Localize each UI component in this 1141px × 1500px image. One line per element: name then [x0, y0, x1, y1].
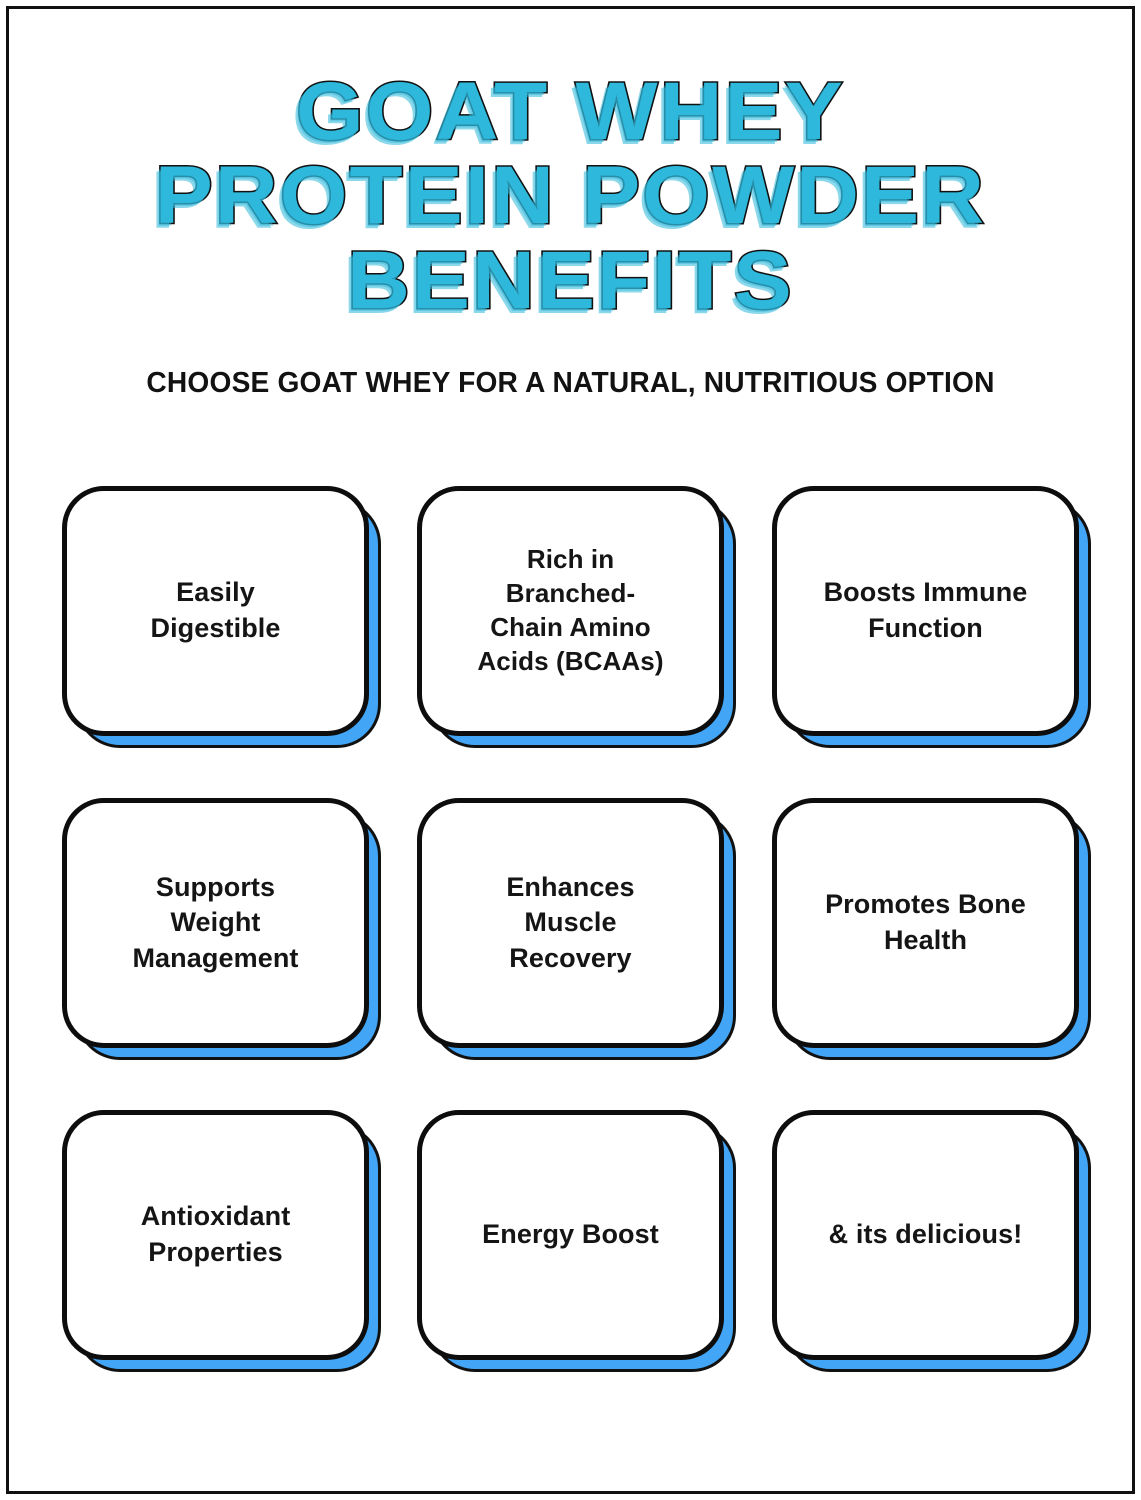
card-body[interactable]: Easily Digestible [62, 486, 369, 736]
card-body[interactable]: Energy Boost [417, 1110, 724, 1360]
infographic-poster: GOAT WHEY PROTEIN POWDER BENEFITS CHOOSE… [0, 0, 1141, 1500]
benefits-grid: Easily Digestible Rich in Branched- Chai… [40, 486, 1101, 1360]
card-body[interactable]: Promotes Bone Health [772, 798, 1079, 1048]
benefit-card-bcaas[interactable]: Rich in Branched- Chain Amino Acids (BCA… [417, 486, 724, 736]
benefit-card-muscle-recovery[interactable]: Enhances Muscle Recovery [417, 798, 724, 1048]
benefit-label: Antioxidant Properties [141, 1199, 291, 1270]
benefit-card-energy-boost[interactable]: Energy Boost [417, 1110, 724, 1360]
title-line-1: GOAT WHEY [8, 72, 1133, 152]
benefit-card-antioxidant[interactable]: Antioxidant Properties [62, 1110, 369, 1360]
card-body[interactable]: Enhances Muscle Recovery [417, 798, 724, 1048]
card-body[interactable]: Rich in Branched- Chain Amino Acids (BCA… [417, 486, 724, 736]
card-body[interactable]: Antioxidant Properties [62, 1110, 369, 1360]
title-line-3: BENEFITS [8, 241, 1133, 321]
poster-content: GOAT WHEY PROTEIN POWDER BENEFITS CHOOSE… [0, 0, 1141, 1500]
benefit-label: Supports Weight Management [132, 870, 298, 977]
benefit-label: Easily Digestible [150, 575, 280, 646]
benefit-label: & its delicious! [829, 1217, 1023, 1253]
benefit-card-easily-digestible[interactable]: Easily Digestible [62, 486, 369, 736]
benefit-label: Rich in Branched- Chain Amino Acids (BCA… [477, 543, 663, 678]
benefit-label: Energy Boost [482, 1217, 659, 1253]
benefit-card-immune-function[interactable]: Boosts Immune Function [772, 486, 1079, 736]
benefit-card-delicious[interactable]: & its delicious! [772, 1110, 1079, 1360]
title-line-2: PROTEIN POWDER [8, 156, 1133, 236]
benefit-label: Boosts Immune Function [824, 575, 1028, 646]
benefit-card-weight-management[interactable]: Supports Weight Management [62, 798, 369, 1048]
card-body[interactable]: Supports Weight Management [62, 798, 369, 1048]
card-body[interactable]: Boosts Immune Function [772, 486, 1079, 736]
benefit-label: Enhances Muscle Recovery [506, 870, 634, 977]
benefit-label: Promotes Bone Health [825, 887, 1026, 958]
card-body[interactable]: & its delicious! [772, 1110, 1079, 1360]
benefit-card-bone-health[interactable]: Promotes Bone Health [772, 798, 1079, 1048]
poster-subtitle: CHOOSE GOAT WHEY FOR A NATURAL, NUTRITIO… [56, 367, 1085, 400]
poster-title: GOAT WHEY PROTEIN POWDER BENEFITS [40, 0, 1101, 321]
